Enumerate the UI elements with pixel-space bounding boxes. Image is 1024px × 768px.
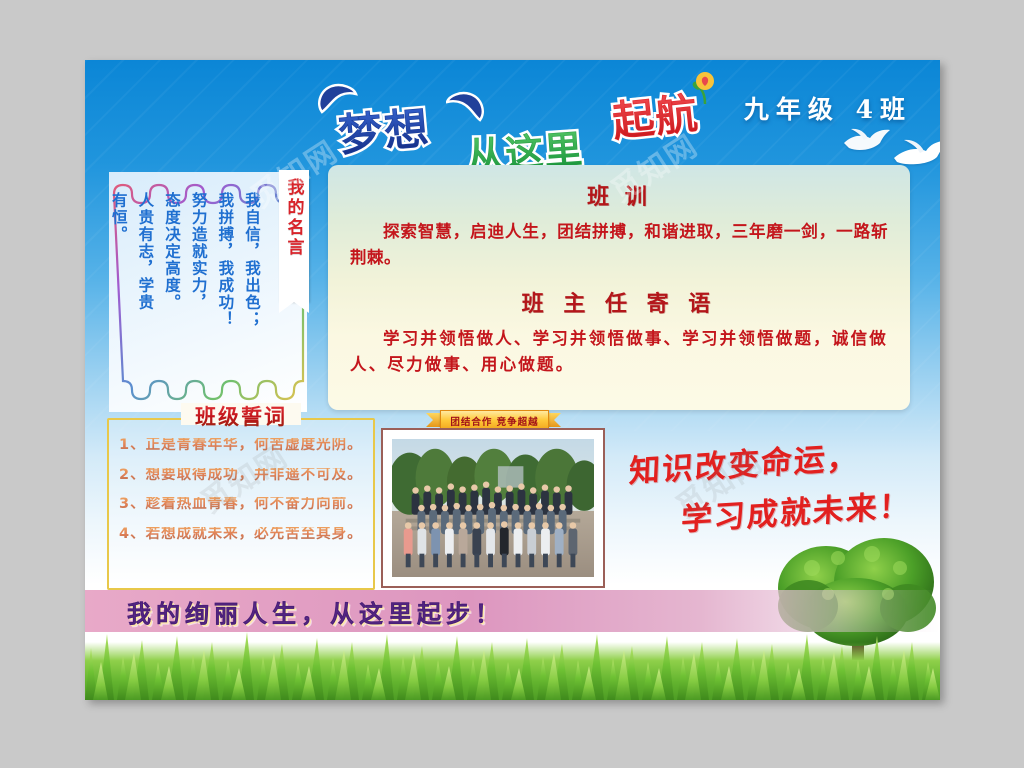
- my-motto-text: 我自信，我出色； 我拼搏，我成功！ 努力造就实力， 态度决定高度。 人贵有志，学…: [105, 192, 265, 392]
- class-photo-frame: [381, 428, 605, 588]
- class-oath-box: 班级誓词 1、正是青春年华，何苦虚度光阴。 2、想要取得成功，并非遥不可及。 3…: [107, 418, 375, 590]
- class-culture-poster: 梦想 梦想 从这里 从这里 起航 起航 九年级 4班: [85, 60, 940, 700]
- poster-title: 梦想 梦想 从这里 从这里 起航 起航: [300, 74, 720, 174]
- dove-icon: [840, 126, 892, 154]
- class-motto-panel: 班 训 探索智慧，启迪人生，团结拼搏，和谐进取，三年磨一剑，一路斩荆棘。 班 主…: [328, 165, 910, 410]
- motto-line: 人贵有志，学贵: [132, 192, 159, 392]
- teacher-message-title: 班 主 任 寄 语: [350, 286, 888, 318]
- my-motto-tag: 我的名言: [279, 170, 309, 302]
- my-motto-tag-label: 我的名言: [282, 178, 307, 258]
- class-photo-illustration: [392, 439, 594, 577]
- calligraphy-line-1: 知识改变命运，: [628, 432, 861, 491]
- class-name-label: 九年级 4班: [744, 90, 912, 126]
- ribbon-label: 团结合作 竞争超越: [450, 414, 538, 428]
- my-motto-stamp: 我自信，我出色； 我拼搏，我成功！ 努力造就实力， 态度决定高度。 人贵有志，学…: [109, 172, 307, 412]
- teacher-message-text: 学习并领悟做人、学习并领悟做事、学习并领悟做题，诚信做人、尽力做事、用心做题。: [350, 326, 888, 377]
- class-motto-title: 班 训: [350, 179, 888, 211]
- motto-line: 我自信，我出色；: [238, 192, 265, 392]
- dove-icon: [891, 138, 940, 168]
- title-word-set-sail: 起航: [609, 80, 701, 150]
- motto-line: 有恒。: [105, 192, 132, 392]
- oath-border: [107, 418, 375, 590]
- class-oath-title: 班级誓词: [186, 401, 296, 431]
- class-photo: [392, 439, 594, 577]
- grass-strip: [85, 622, 940, 700]
- motto-line: 我拼搏，我成功！: [212, 192, 239, 392]
- title-word-dream: 梦想: [335, 92, 432, 164]
- butterfly-wing-icon: [446, 90, 486, 128]
- screenshot-stage: 梦想 梦想 从这里 从这里 起航 起航 九年级 4班: [0, 0, 1024, 768]
- class-motto-text: 探索智慧，启迪人生，团结拼搏，和谐进取，三年磨一剑，一路斩荆棘。: [350, 219, 888, 270]
- motto-line: 态度决定高度。: [158, 192, 185, 392]
- grass-blades: [85, 622, 940, 700]
- motto-line: 努力造就实力，: [185, 192, 212, 392]
